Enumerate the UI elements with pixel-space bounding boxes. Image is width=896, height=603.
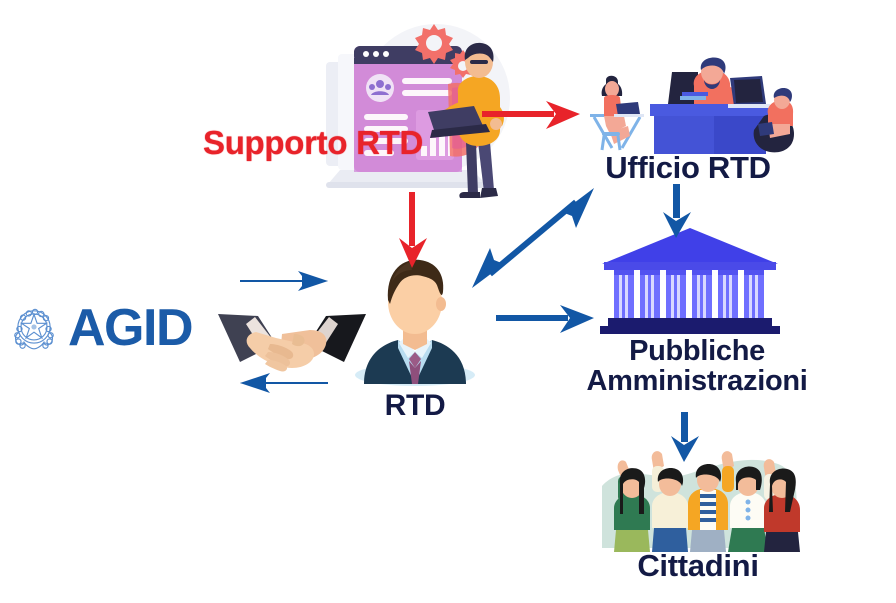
arrow-ufficio-to-pa xyxy=(660,184,694,238)
node-rtd[interactable] xyxy=(352,248,478,388)
arrow-rtd-to-agid xyxy=(240,370,328,396)
agid-wordmark: AGID xyxy=(68,302,192,354)
arrow-supporto-to-rtd xyxy=(396,192,430,268)
pa-label-line2: Amministrazioni xyxy=(586,365,807,397)
node-ufficio-rtd-label: Ufficio RTD xyxy=(566,152,810,185)
handshake-illustration xyxy=(218,300,366,378)
arrow-agid-to-rtd xyxy=(240,268,328,294)
arrow-rtd-to-ufficio-bidirectional xyxy=(470,186,596,290)
arrow-rtd-to-pa xyxy=(496,302,594,336)
arrow-pa-to-cittadini xyxy=(668,412,702,462)
node-rtd-label: RTD xyxy=(352,390,478,422)
italian-republic-emblem-icon xyxy=(8,302,60,354)
diagram-canvas: AGID xyxy=(0,0,896,603)
node-cittadini-label: Cittadini xyxy=(586,550,810,583)
node-supporto-rtd-label: Supporto RTD xyxy=(186,126,440,161)
node-agid[interactable]: AGID xyxy=(8,296,223,360)
pa-label-line1: Pubbliche xyxy=(629,335,765,367)
arrow-supporto-to-ufficio xyxy=(482,98,580,132)
node-ufficio-rtd[interactable] xyxy=(576,52,798,160)
node-pubbliche-amministrazioni[interactable] xyxy=(600,228,780,334)
node-pubbliche-amministrazioni-label: PubblicheAmministrazioni xyxy=(548,336,846,397)
